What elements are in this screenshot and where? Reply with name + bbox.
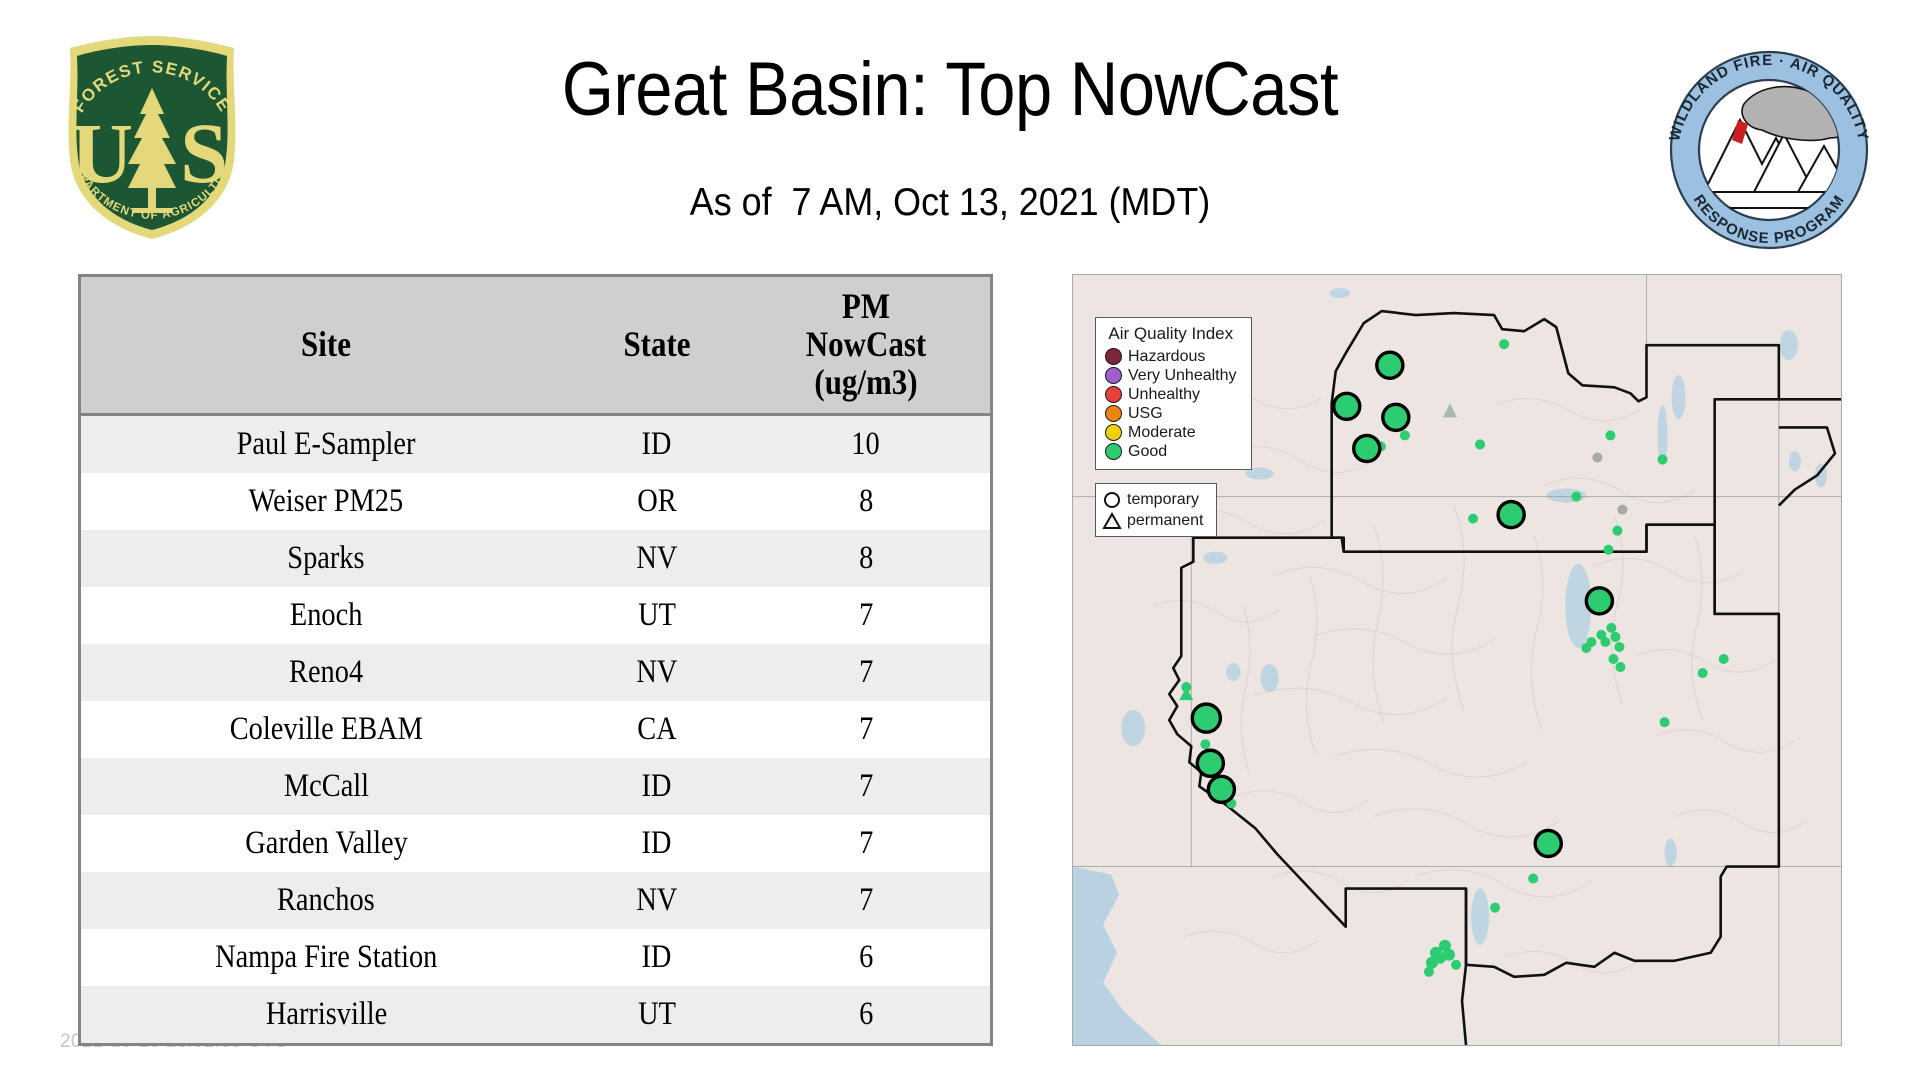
cell-state-label: ID bbox=[642, 768, 672, 805]
cell-site-label: McCall bbox=[284, 768, 369, 805]
cell-pm-label: 10 bbox=[852, 426, 880, 463]
aqi-legend-label: Moderate bbox=[1128, 425, 1196, 441]
cell-site-label: Enoch bbox=[290, 597, 363, 634]
cell-site: Paul E-Sampler bbox=[80, 415, 572, 474]
cell-site: Harrisville bbox=[80, 986, 572, 1045]
cell-site-label: Garden Valley bbox=[245, 825, 408, 862]
table-body: Paul E-Sampler ID 10 Weiser PM25 OR 8 Sp… bbox=[80, 415, 992, 1045]
cell-state: NV bbox=[572, 644, 742, 701]
cell-state: NV bbox=[572, 530, 742, 587]
slide-header: FOREST SERVICE DEPARTMENT OF AGRICULTURE… bbox=[0, 0, 1920, 270]
wfaqrp-logo: WILDLAND FIRE · AIR QUALITY RESPONSE PRO… bbox=[1658, 42, 1880, 254]
cell-site: Sparks bbox=[80, 530, 572, 587]
table-row[interactable]: Sparks NV 8 bbox=[80, 530, 992, 587]
table-row[interactable]: Garden Valley ID 7 bbox=[80, 815, 992, 872]
table-row[interactable]: Paul E-Sampler ID 10 bbox=[80, 415, 992, 474]
cell-state: UT bbox=[572, 986, 742, 1045]
column-header-pm-line2: NowCast bbox=[806, 325, 926, 363]
temporary-circle-icon bbox=[1102, 490, 1122, 510]
cell-state-label: CA bbox=[637, 711, 676, 748]
page-subtitle: As of 7 AM, Oct 13, 2021 (MDT) bbox=[315, 183, 1585, 222]
cell-pm-label: 7 bbox=[859, 768, 873, 805]
site-type-item-permanent[interactable]: permanent bbox=[1102, 510, 1204, 531]
cell-state-label: UT bbox=[638, 597, 676, 634]
table-row[interactable]: Nampa Fire Station ID 6 bbox=[80, 929, 992, 986]
column-header-state-label: State bbox=[623, 325, 690, 363]
cell-state-label: NV bbox=[636, 882, 677, 919]
aqi-legend-title: Air Quality Index bbox=[1105, 324, 1237, 344]
column-header-pm-line1: PM bbox=[842, 287, 890, 325]
site-type-legend: temporary permanent bbox=[1095, 483, 1217, 537]
table-header: Site State PM NowCast (ug/m3) bbox=[80, 276, 992, 415]
column-header-pm-line3: (ug/m3) bbox=[814, 363, 917, 401]
cell-pm-label: 7 bbox=[859, 711, 873, 748]
table-header-row: Site State PM NowCast (ug/m3) bbox=[80, 276, 992, 415]
site-type-label: permanent bbox=[1127, 513, 1204, 529]
cell-site-label: Ranchos bbox=[277, 882, 375, 919]
cell-site-label: Reno4 bbox=[289, 654, 363, 691]
cell-state-label: NV bbox=[636, 654, 677, 691]
column-header-site[interactable]: Site bbox=[80, 276, 572, 415]
table-row[interactable]: Ranchos NV 7 bbox=[80, 872, 992, 929]
cell-state: UT bbox=[572, 587, 742, 644]
cell-site-label: Weiser PM25 bbox=[249, 483, 404, 520]
aqi-swatch-hazardous-icon bbox=[1105, 348, 1122, 365]
aqi-legend-label: Hazardous bbox=[1128, 349, 1205, 365]
usfs-letter-s: S bbox=[180, 105, 228, 201]
aqi-legend-item-very-unhealthy[interactable]: Very Unhealthy bbox=[1105, 366, 1237, 385]
cell-site-label: Sparks bbox=[288, 540, 365, 577]
cell-pm: 7 bbox=[742, 815, 992, 872]
cell-pm: 8 bbox=[742, 530, 992, 587]
table-row[interactable]: McCall ID 7 bbox=[80, 758, 992, 815]
aqi-legend-item-usg[interactable]: USG bbox=[1105, 404, 1237, 423]
aqi-legend-item-unhealthy[interactable]: Unhealthy bbox=[1105, 385, 1237, 404]
site-type-label: temporary bbox=[1127, 492, 1199, 508]
nowcast-table-panel: Site State PM NowCast (ug/m3) Paul E-Sam… bbox=[78, 274, 990, 1046]
aqi-legend-label: USG bbox=[1128, 406, 1163, 422]
cell-state-label: ID bbox=[642, 426, 672, 463]
cell-pm: 7 bbox=[742, 644, 992, 701]
permanent-triangle-icon bbox=[1102, 511, 1122, 531]
table-row[interactable]: Weiser PM25 OR 8 bbox=[80, 473, 992, 530]
cell-site: Ranchos bbox=[80, 872, 572, 929]
aqi-legend-item-hazardous[interactable]: Hazardous bbox=[1105, 347, 1237, 366]
aqi-swatch-very-unhealthy-icon bbox=[1105, 367, 1122, 384]
cell-state: ID bbox=[572, 929, 742, 986]
cell-site: Reno4 bbox=[80, 644, 572, 701]
table-row[interactable]: Enoch UT 7 bbox=[80, 587, 992, 644]
cell-site: Enoch bbox=[80, 587, 572, 644]
cell-site: McCall bbox=[80, 758, 572, 815]
aqi-legend-label: Very Unhealthy bbox=[1128, 368, 1237, 384]
us-forest-service-shield-logo: FOREST SERVICE DEPARTMENT OF AGRICULTURE… bbox=[52, 30, 252, 245]
cell-state: ID bbox=[572, 815, 742, 872]
nowcast-table: Site State PM NowCast (ug/m3) Paul E-Sam… bbox=[78, 274, 993, 1046]
cell-pm-label: 7 bbox=[859, 597, 873, 634]
aqi-swatch-good-icon bbox=[1105, 443, 1122, 460]
aqi-legend-item-good[interactable]: Good bbox=[1105, 442, 1237, 461]
cell-pm: 7 bbox=[742, 872, 992, 929]
aqi-swatch-moderate-icon bbox=[1105, 424, 1122, 441]
page-title: Great Basin: Top NowCast bbox=[343, 52, 1557, 128]
cell-state-label: OR bbox=[637, 483, 676, 520]
cell-site: Weiser PM25 bbox=[80, 473, 572, 530]
usfs-letter-u: U bbox=[71, 105, 133, 201]
aqi-legend-item-moderate[interactable]: Moderate bbox=[1105, 423, 1237, 442]
usfs-shield-svg: FOREST SERVICE DEPARTMENT OF AGRICULTURE… bbox=[52, 30, 252, 245]
cell-site-label: Nampa Fire Station bbox=[215, 939, 437, 976]
cell-pm: 10 bbox=[742, 415, 992, 474]
aqi-swatch-unhealthy-icon bbox=[1105, 386, 1122, 403]
site-type-item-temporary[interactable]: temporary bbox=[1102, 489, 1204, 510]
aqi-legend-label: Good bbox=[1128, 444, 1167, 460]
cell-site-label: Paul E-Sampler bbox=[237, 426, 416, 463]
cell-site-label: Harrisville bbox=[266, 996, 387, 1033]
cell-site: Coleville EBAM bbox=[80, 701, 572, 758]
cell-state: NV bbox=[572, 872, 742, 929]
column-header-state[interactable]: State bbox=[572, 276, 742, 415]
cell-state-label: ID bbox=[642, 939, 672, 976]
cell-pm-label: 6 bbox=[859, 939, 873, 976]
aqi-swatch-usg-icon bbox=[1105, 405, 1122, 422]
cell-site: Nampa Fire Station bbox=[80, 929, 572, 986]
cell-pm-label: 7 bbox=[859, 825, 873, 862]
cell-pm: 8 bbox=[742, 473, 992, 530]
cell-site: Garden Valley bbox=[80, 815, 572, 872]
wfaqrp-logo-svg: WILDLAND FIRE · AIR QUALITY RESPONSE PRO… bbox=[1658, 42, 1880, 254]
cell-state: OR bbox=[572, 473, 742, 530]
column-header-pm-nowcast[interactable]: PM NowCast (ug/m3) bbox=[742, 276, 992, 415]
cell-pm: 6 bbox=[742, 929, 992, 986]
cell-pm-label: 7 bbox=[859, 654, 873, 691]
table-row[interactable]: Coleville EBAM CA 7 bbox=[80, 701, 992, 758]
cell-pm: 7 bbox=[742, 587, 992, 644]
cell-pm-label: 6 bbox=[859, 996, 873, 1033]
cell-state-label: UT bbox=[638, 996, 676, 1033]
aqi-legend: Air Quality Index Hazardous Very Unhealt… bbox=[1095, 317, 1252, 470]
cell-state-label: NV bbox=[636, 540, 677, 577]
cell-state-label: ID bbox=[642, 825, 672, 862]
table-row[interactable]: Harrisville UT 6 bbox=[80, 986, 992, 1045]
air-quality-map[interactable]: Air Quality Index Hazardous Very Unhealt… bbox=[1072, 274, 1842, 1046]
cell-state: ID bbox=[572, 758, 742, 815]
table-row[interactable]: Reno4 NV 7 bbox=[80, 644, 992, 701]
cell-pm: 6 bbox=[742, 986, 992, 1045]
cell-state: CA bbox=[572, 701, 742, 758]
aqi-legend-label: Unhealthy bbox=[1128, 387, 1200, 403]
cell-pm-label: 8 bbox=[859, 540, 873, 577]
cell-pm: 7 bbox=[742, 758, 992, 815]
cell-pm-label: 7 bbox=[859, 882, 873, 919]
cell-pm-label: 8 bbox=[859, 483, 873, 520]
cell-pm: 7 bbox=[742, 701, 992, 758]
cell-site-label: Coleville EBAM bbox=[230, 711, 423, 748]
cell-state: ID bbox=[572, 415, 742, 474]
column-header-site-label: Site bbox=[301, 325, 351, 363]
